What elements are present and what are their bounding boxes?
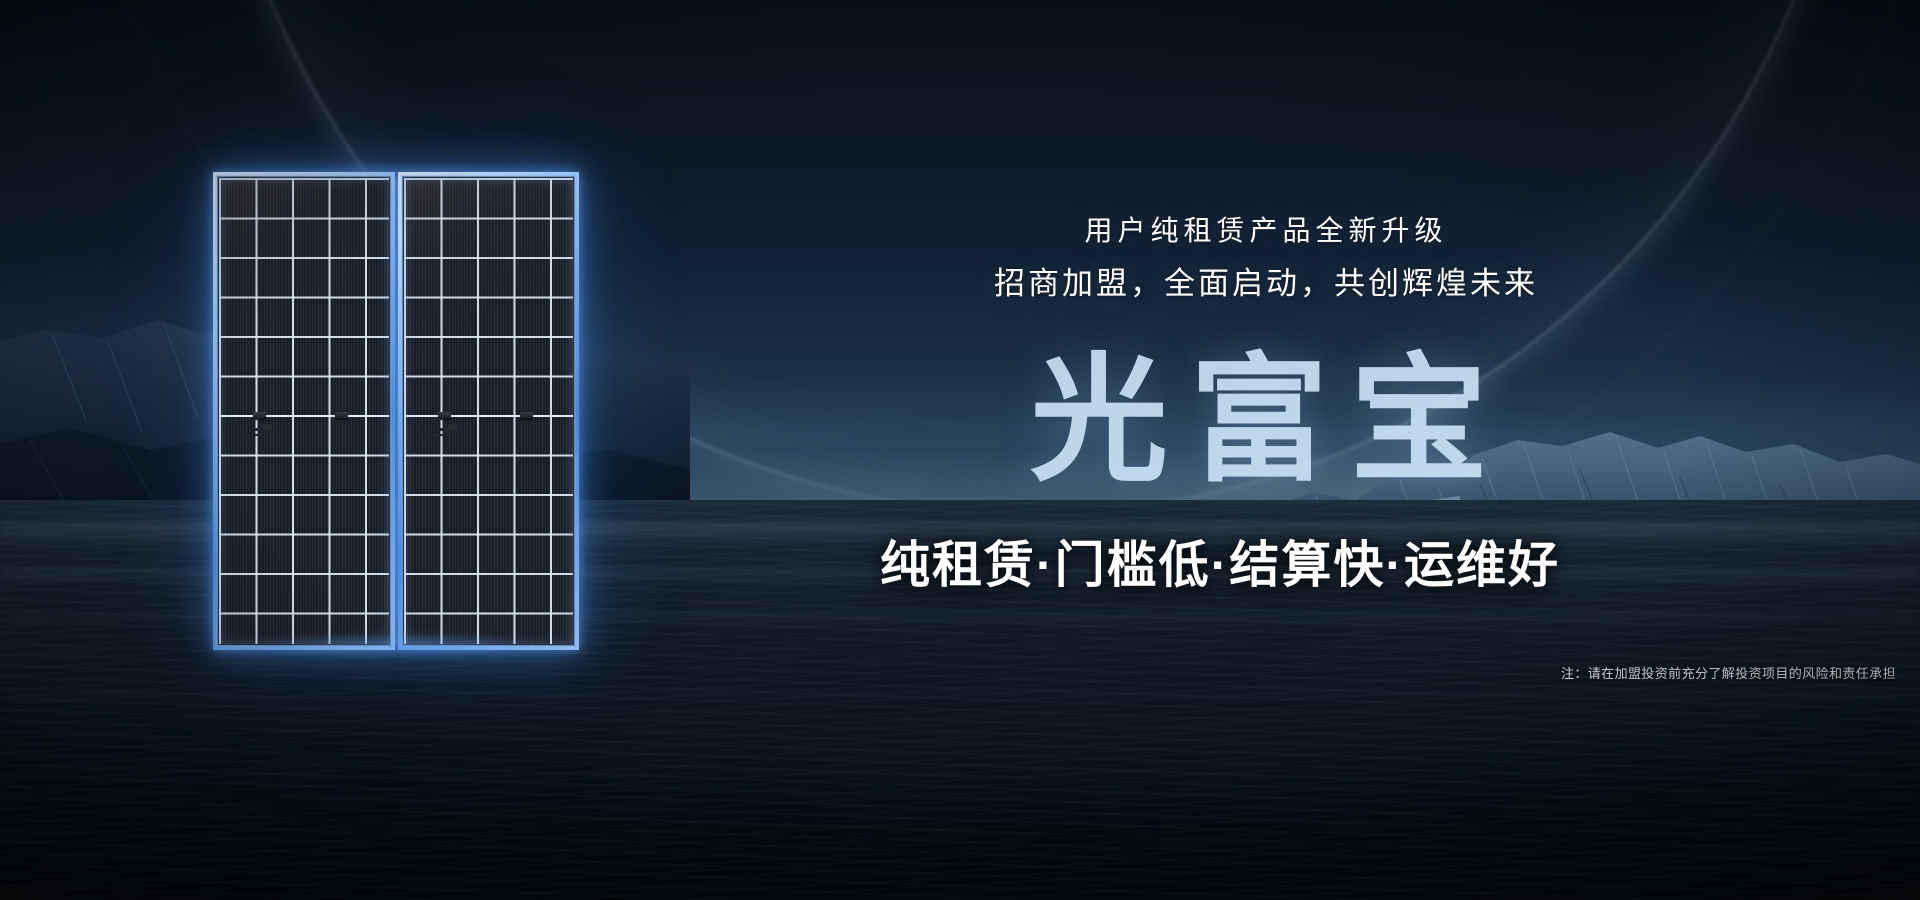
- busbar-left: [219, 415, 389, 417]
- busbar-right: [404, 415, 574, 417]
- junction-box-2: [335, 412, 348, 419]
- promotional-banner: 用户纯租赁产品全新升级 招商加盟，全面启动，共创辉煌未来 光富宝 纯租赁·门槛低…: [0, 0, 1920, 900]
- cable-loop-2: [418, 418, 444, 436]
- solar-cell-columns-left: [219, 178, 389, 644]
- solar-panel-product[interactable]: [213, 172, 579, 650]
- solar-cell-grid-right: [404, 178, 574, 644]
- cable-loop-1: [233, 418, 259, 436]
- solar-cell-grid-left: [219, 178, 389, 644]
- solar-panel-left[interactable]: [213, 172, 395, 650]
- cable-plug-1: [263, 424, 272, 429]
- junction-box-4: [520, 412, 533, 419]
- solar-panel-right[interactable]: [398, 172, 580, 650]
- cable-plug-2: [448, 424, 457, 429]
- solar-cell-columns-right: [404, 178, 574, 644]
